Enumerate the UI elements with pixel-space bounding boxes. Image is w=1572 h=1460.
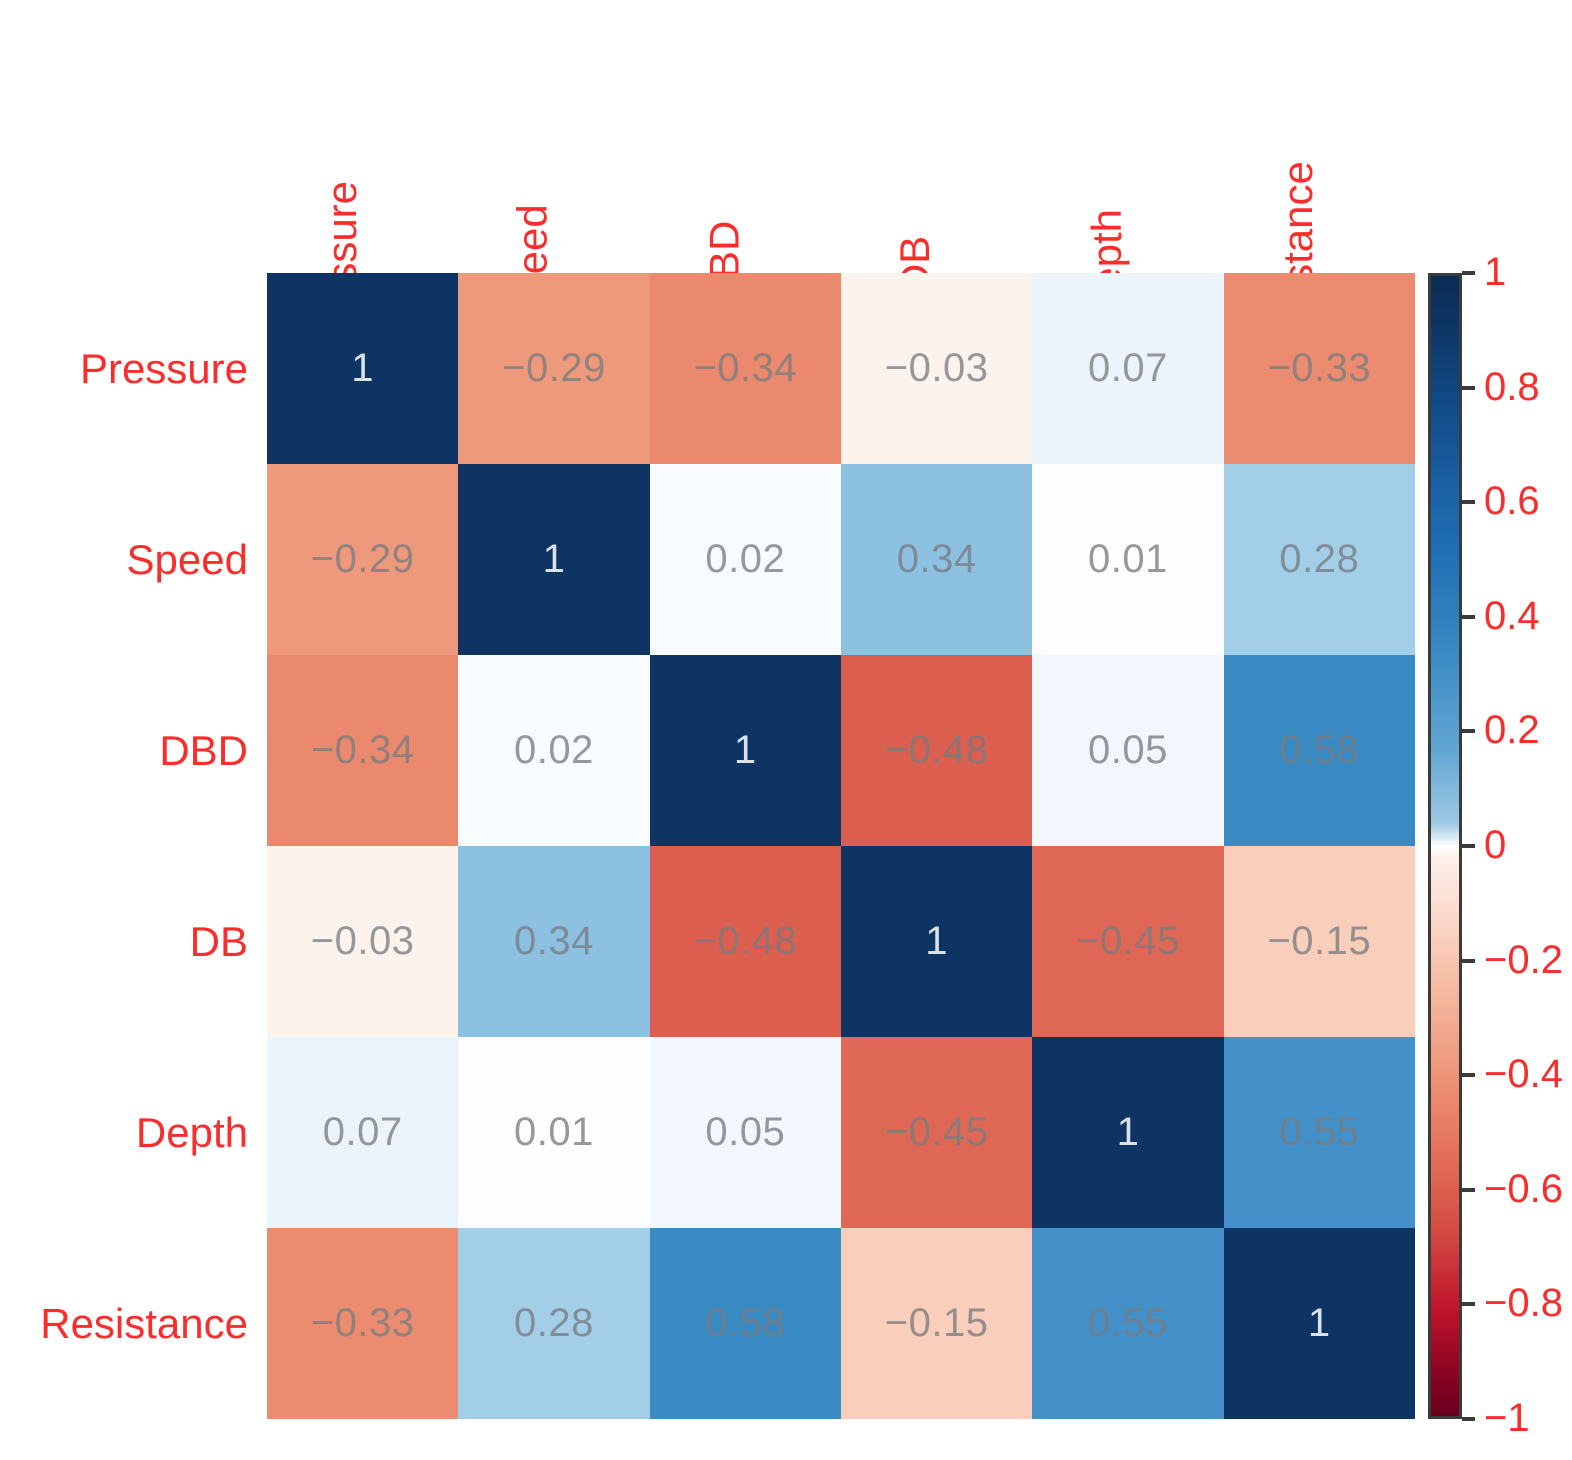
heatmap-cell: 1 (650, 655, 841, 846)
heatmap-cell: 0.07 (267, 1037, 458, 1228)
colorbar-tick (1462, 615, 1475, 619)
colorbar-tick (1462, 959, 1475, 963)
heatmap-matrix: 1−0.29−0.34−0.030.07−0.33−0.2910.020.340… (267, 273, 1415, 1419)
heatmap-cell: −0.48 (650, 846, 841, 1037)
colorbar: 10.80.60.40.20−0.2−0.4−0.6−0.8−1 (1428, 273, 1572, 1419)
colorbar-tick-label: 0.6 (1484, 481, 1540, 521)
cell-value: 0.05 (705, 1110, 785, 1155)
cell-value: −0.45 (885, 1110, 989, 1155)
colorbar-tick (1462, 844, 1475, 848)
colorbar-tick-label: −0.4 (1484, 1054, 1563, 1094)
heatmap-cell: 0.58 (1224, 655, 1415, 846)
cell-value: 0.55 (1279, 1110, 1359, 1155)
heatmap-cell: 1 (841, 846, 1032, 1037)
colorbar-tick (1462, 271, 1475, 275)
cell-value: 0.05 (1088, 728, 1168, 773)
cell-value: 0.58 (1279, 728, 1359, 773)
heatmap-cell: 0.55 (1224, 1037, 1415, 1228)
heatmap-cell: 1 (267, 273, 458, 464)
heatmap-cell: −0.03 (841, 273, 1032, 464)
heatmap-cell: −0.29 (267, 464, 458, 655)
colorbar-gradient (1428, 273, 1462, 1419)
heatmap-cell: −0.03 (267, 846, 458, 1037)
cell-value: −0.48 (693, 919, 797, 964)
column-axis-labels: PressureSpeedDBDDBDepthResistance (267, 0, 1415, 273)
cell-value: −0.15 (885, 1301, 989, 1346)
heatmap-cell: −0.33 (1224, 273, 1415, 464)
colorbar-tick-label: 0.2 (1484, 710, 1540, 750)
cell-value: 0.07 (1088, 346, 1168, 391)
cell-value: 0.01 (1088, 537, 1168, 582)
heatmap-cell: 0.34 (458, 846, 649, 1037)
heatmap-cell: 0.34 (841, 464, 1032, 655)
cell-value: 1 (925, 919, 948, 964)
heatmap-cell: 0.07 (1032, 273, 1223, 464)
heatmap-cell: −0.48 (841, 655, 1032, 846)
cell-value: −0.03 (885, 346, 989, 391)
cell-value: 0.02 (514, 728, 594, 773)
row-label-dbd: DBD (0, 655, 258, 846)
cell-value: 0.28 (514, 1301, 594, 1346)
cell-value: −0.34 (311, 728, 415, 773)
cell-value: −0.48 (885, 728, 989, 773)
row-label-speed: Speed (0, 464, 258, 655)
heatmap-cell: 0.55 (1032, 1228, 1223, 1419)
heatmap-cell: −0.29 (458, 273, 649, 464)
cell-value: −0.34 (693, 346, 797, 391)
colorbar-tick (1462, 1417, 1475, 1421)
cell-value: −0.33 (1267, 346, 1371, 391)
cell-value: 1 (351, 346, 374, 391)
heatmap-cell: 1 (458, 464, 649, 655)
row-label-pressure: Pressure (0, 273, 258, 464)
heatmap-cell: 0.02 (650, 464, 841, 655)
colorbar-tick-label: 0 (1484, 825, 1506, 865)
row-axis-labels: PressureSpeedDBDDBDepthResistance (0, 273, 258, 1419)
row-label-depth: Depth (0, 1037, 258, 1228)
heatmap-cell: −0.34 (267, 655, 458, 846)
cell-value: 0.01 (514, 1110, 594, 1155)
cell-value: 1 (734, 728, 757, 773)
cell-value: 0.34 (897, 537, 977, 582)
colorbar-tick (1462, 386, 1475, 390)
cell-value: −0.29 (311, 537, 415, 582)
heatmap-cell: 1 (1032, 1037, 1223, 1228)
colorbar-tick-label: 0.8 (1484, 367, 1540, 407)
colorbar-tick-label: 0.4 (1484, 596, 1540, 636)
cell-value: 0.58 (705, 1301, 785, 1346)
heatmap-cell: −0.34 (650, 273, 841, 464)
heatmap-cell: 0.01 (1032, 464, 1223, 655)
colorbar-tick (1462, 500, 1475, 504)
heatmap-cell: −0.15 (1224, 846, 1415, 1037)
cell-value: 0.02 (705, 537, 785, 582)
colorbar-tick (1462, 1073, 1475, 1077)
heatmap-cell: 0.05 (1032, 655, 1223, 846)
cell-value: 0.07 (323, 1110, 403, 1155)
heatmap-cell: −0.45 (841, 1037, 1032, 1228)
cell-value: 0.28 (1279, 537, 1359, 582)
colorbar-tick (1462, 729, 1475, 733)
heatmap-cell: 1 (1224, 1228, 1415, 1419)
colorbar-tick (1462, 1302, 1475, 1306)
cell-value: 1 (1117, 1110, 1140, 1155)
colorbar-tick-label: −0.8 (1484, 1283, 1563, 1323)
heatmap-cell: −0.15 (841, 1228, 1032, 1419)
cell-value: 1 (1308, 1301, 1331, 1346)
cell-value: 1 (543, 537, 566, 582)
colorbar-tick-label: −1 (1484, 1398, 1530, 1438)
heatmap-cell: 0.58 (650, 1228, 841, 1419)
heatmap-cell: 0.02 (458, 655, 649, 846)
row-label-resistance: Resistance (0, 1228, 258, 1419)
cell-value: −0.15 (1267, 919, 1371, 964)
heatmap-cell: 0.05 (650, 1037, 841, 1228)
colorbar-tick (1462, 1188, 1475, 1192)
heatmap-cell: 0.28 (458, 1228, 649, 1419)
heatmap-cell: −0.45 (1032, 846, 1223, 1037)
cell-value: −0.45 (1076, 919, 1180, 964)
cell-value: 0.34 (514, 919, 594, 964)
heatmap-cell: 0.01 (458, 1037, 649, 1228)
colorbar-tick-label: −0.2 (1484, 940, 1563, 980)
cell-value: 0.55 (1088, 1301, 1168, 1346)
colorbar-tick-label: −0.6 (1484, 1169, 1563, 1209)
cell-value: −0.33 (311, 1301, 415, 1346)
row-label-db: DB (0, 846, 258, 1037)
correlation-heatmap: PressureSpeedDBDDBDepthResistance Pressu… (0, 0, 1572, 1460)
colorbar-tick-label: 1 (1484, 252, 1506, 292)
heatmap-cell: −0.33 (267, 1228, 458, 1419)
heatmap-cell: 0.28 (1224, 464, 1415, 655)
cell-value: −0.29 (502, 346, 606, 391)
cell-value: −0.03 (311, 919, 415, 964)
